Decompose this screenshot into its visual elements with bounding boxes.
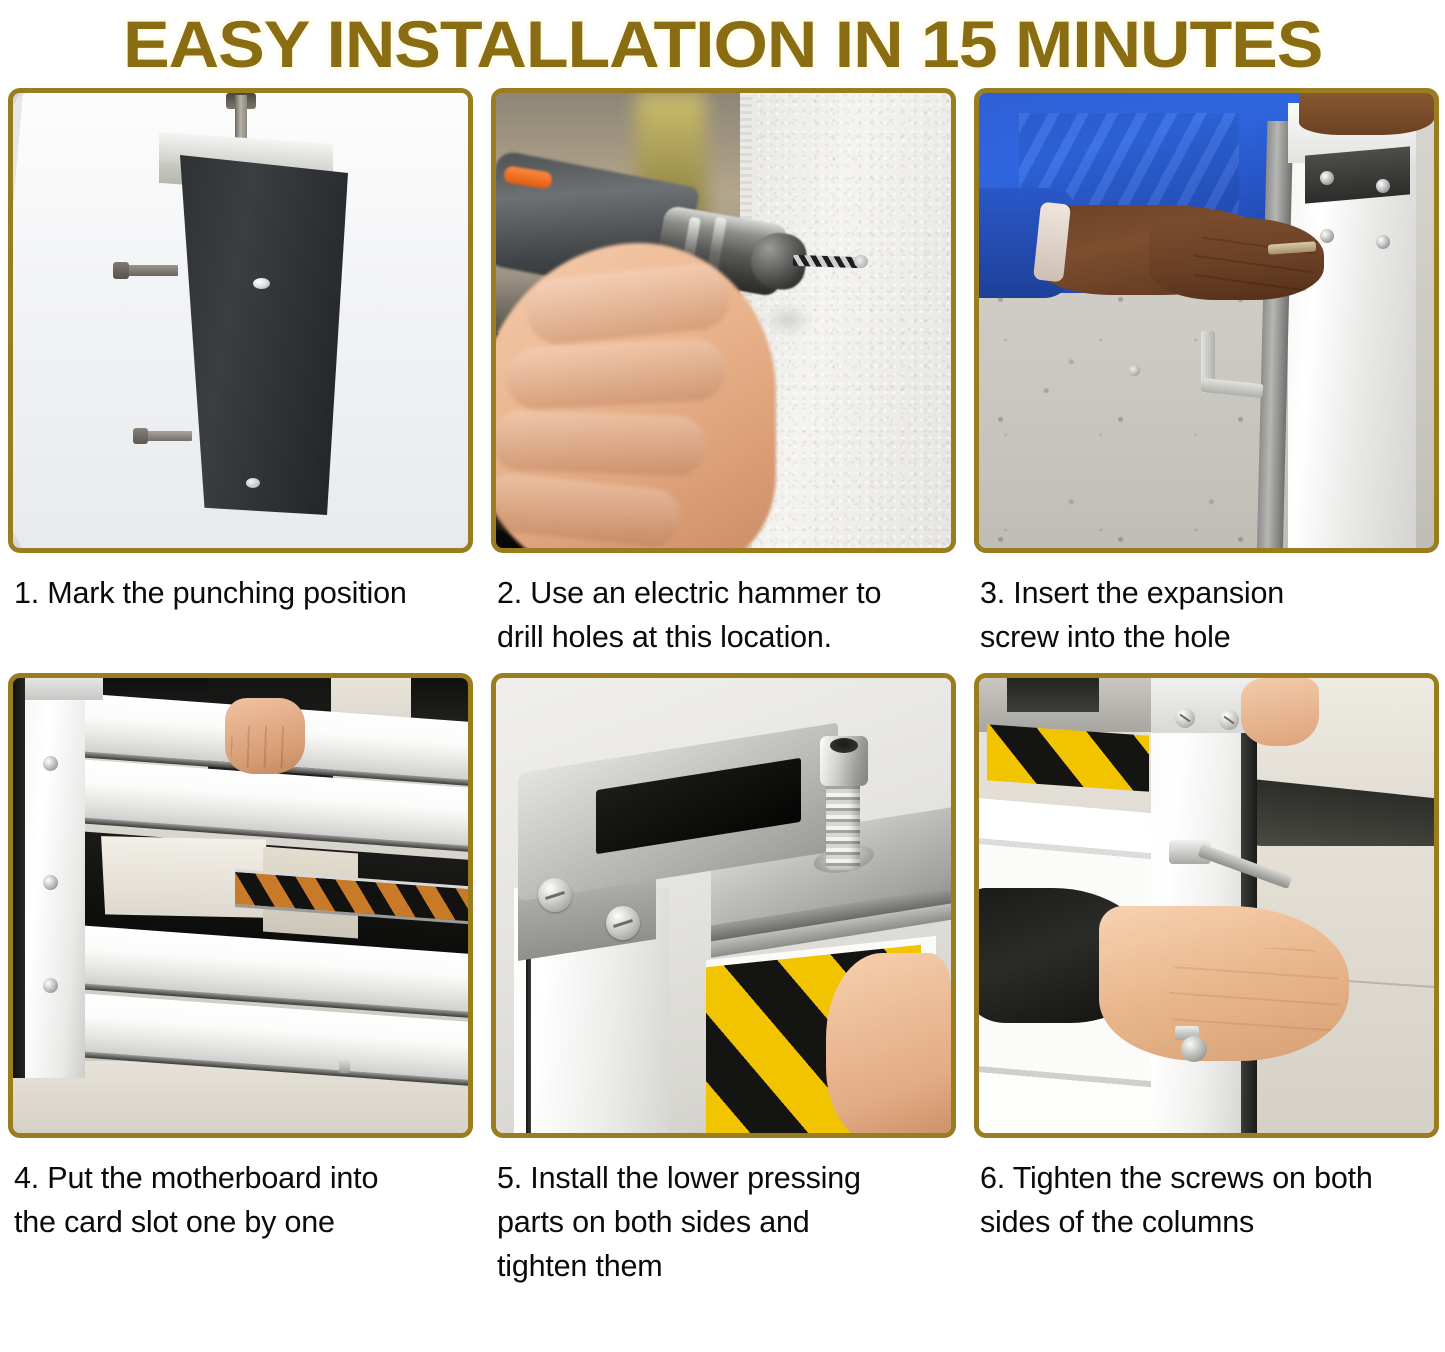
caption-line: drill holes at this location. — [497, 615, 958, 659]
step-card-1: 1. Mark the punching position — [8, 88, 481, 673]
finger-3 — [496, 409, 707, 476]
photo-5-content — [496, 678, 951, 1133]
caption-line: 4. Put the motherboard into — [14, 1156, 475, 1200]
second-hand-top — [1299, 93, 1434, 135]
column-slot-screw-1 — [43, 756, 58, 771]
page-title: EASY INSTALLATION IN 15 MINUTES — [123, 11, 1322, 77]
drill-bit — [793, 255, 861, 268]
protruding-bolt-upper-head — [113, 262, 129, 279]
photo-3-content — [979, 93, 1434, 548]
caption-line: 1. Mark the punching position — [14, 571, 475, 615]
lower-screw-head — [1181, 1036, 1207, 1062]
column-screw-3 — [1320, 229, 1334, 243]
column-screw-2 — [1376, 179, 1390, 193]
floor-anchor-point — [1129, 365, 1140, 376]
finger-2 — [505, 337, 728, 410]
photo-4-content — [13, 678, 468, 1133]
caption-line: 5. Install the lower pressing — [497, 1156, 958, 1200]
column-top-screw-1 — [1175, 708, 1195, 728]
caption-line: 3. Insert the expansion — [980, 571, 1441, 615]
step-card-3: 3. Insert the expansion screw into the h… — [974, 88, 1445, 673]
caption-line: tighten them — [497, 1244, 958, 1288]
caption-line: 2. Use an electric hammer to — [497, 571, 958, 615]
photo-2-content — [496, 93, 951, 548]
photo-6-content — [979, 678, 1434, 1133]
steps-grid: 1. Mark the punching position — [0, 88, 1445, 1288]
photo-drill-holes — [491, 88, 956, 553]
drill-bit-tip — [854, 255, 868, 268]
caption-line: 6. Tighten the screws on both — [980, 1156, 1441, 1200]
step-caption-1: 1. Mark the punching position — [8, 553, 481, 673]
hand-placing-board — [225, 698, 305, 774]
column-top-screw-2 — [1219, 710, 1239, 730]
title-bar: EASY INSTALLATION IN 15 MINUTES — [0, 0, 1445, 88]
floor-screw — [339, 1060, 350, 1073]
photo-tighten-screws — [974, 673, 1439, 1138]
photo-1-content — [13, 93, 468, 548]
caption-line: sides of the columns — [980, 1200, 1441, 1244]
photo-insert-expansion-screw — [974, 88, 1439, 553]
column-top-cap — [25, 678, 103, 700]
column-slot-screw-2 — [43, 875, 58, 890]
photo-insert-boards — [8, 673, 473, 1138]
caption-line: parts on both sides and — [497, 1200, 958, 1244]
second-hand-top — [1241, 678, 1319, 746]
column-screw-4 — [1376, 235, 1390, 249]
drill-dust — [764, 305, 812, 335]
photo-lower-pressing-parts — [491, 673, 956, 1138]
step-card-2: 2. Use an electric hammer to drill holes… — [491, 88, 964, 673]
step-card-5: 5. Install the lower pressing parts on b… — [491, 673, 964, 1288]
step-caption-6: 6. Tighten the screws on both sides of t… — [974, 1138, 1445, 1258]
bracket-screw-2 — [606, 906, 640, 940]
step-caption-3: 3. Insert the expansion screw into the h… — [974, 553, 1445, 673]
top-bracket-dark-slot — [1007, 678, 1099, 712]
caption-line: the card slot one by one — [14, 1200, 475, 1244]
step-caption-4: 4. Put the motherboard into the card slo… — [8, 1138, 481, 1258]
column-slot-screw-3 — [43, 978, 58, 993]
thumb-screw-hex-socket — [830, 738, 858, 753]
step-caption-2: 2. Use an electric hammer to drill holes… — [491, 553, 964, 673]
mounting-hole-upper — [253, 278, 270, 289]
thumb-holding-part — [826, 953, 951, 1133]
bracket-screw-1 — [538, 878, 572, 912]
photo-mark-punching-position — [8, 88, 473, 553]
step-caption-5: 5. Install the lower pressing parts on b… — [491, 1138, 964, 1288]
column-screw-1 — [1320, 171, 1334, 185]
step-card-6: 6. Tighten the screws on both sides of t… — [974, 673, 1445, 1288]
protruding-bolt-lower-head — [133, 428, 148, 444]
hand-tightening-screw — [1099, 906, 1349, 1061]
caption-line: screw into the hole — [980, 615, 1441, 659]
hazard-tape-yellow-black — [987, 724, 1149, 791]
step-card-4: 4. Put the motherboard into the card slo… — [8, 673, 481, 1288]
mounting-hole-lower — [246, 478, 260, 488]
